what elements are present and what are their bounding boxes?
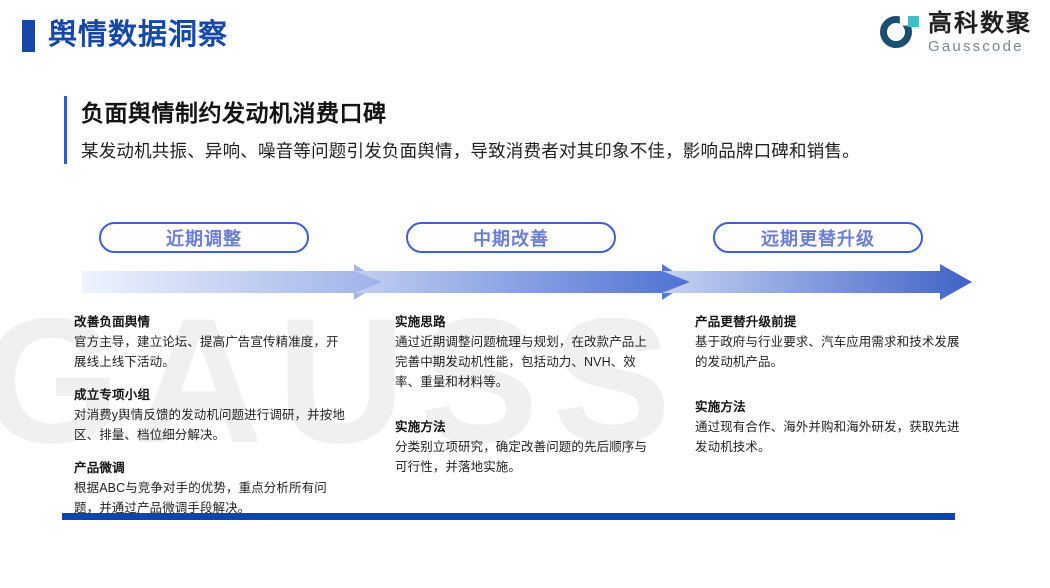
column-long-term: 产品更替升级前提 基于政府与行业要求、汽车应用需求和技术发展的发动机产品。 实施… xyxy=(695,313,963,457)
text-block: 实施思路 通过近期调整问题梳理与规划，在改款产品上完善中期发动机性能，包括动力、… xyxy=(395,313,657,392)
block-body: 分类别立项研究，确定改善问题的先后顺序与可行性，并落地实施。 xyxy=(395,437,657,477)
text-block: 产品微调 根据ABC与竞争对手的优势，重点分析所有问题，并通过产品微调手段解决。 xyxy=(74,459,350,518)
gausscode-mark-icon xyxy=(880,13,920,53)
logo-text: 高科数聚 Gausscode xyxy=(928,12,1032,54)
stage-pill-long-term[interactable]: 远期更替升级 xyxy=(713,222,923,253)
column-mid-term: 实施思路 通过近期调整问题梳理与规划，在改款产品上完善中期发动机性能，包括动力、… xyxy=(395,313,657,477)
logo-square-shape xyxy=(908,16,919,27)
block-heading: 实施方法 xyxy=(395,418,657,437)
block-body: 对消费y舆情反馈的发动机问题进行调研，并按地区、排量、档位细分解决。 xyxy=(74,405,350,445)
block-body: 根据ABC与竞争对手的优势，重点分析所有问题，并通过产品微调手段解决。 xyxy=(74,478,350,518)
block-heading: 改善负面舆情 xyxy=(74,313,350,332)
block-body: 基于政府与行业要求、汽车应用需求和技术发展的发动机产品。 xyxy=(695,332,963,372)
page-title: 舆情数据洞察 xyxy=(48,15,228,55)
block-heading: 成立专项小组 xyxy=(74,386,350,405)
block-heading: 实施思路 xyxy=(395,313,657,332)
block-heading: 产品更替升级前提 xyxy=(695,313,963,332)
timeline-arrow-svg xyxy=(82,264,972,300)
logo-name-cn: 高科数聚 xyxy=(928,12,1032,36)
text-block: 成立专项小组 对消费y舆情反馈的发动机问题进行调研，并按地区、排量、档位细分解决… xyxy=(74,386,350,445)
stage-pill-mid-term[interactable]: 中期改善 xyxy=(406,222,616,253)
block-body: 通过现有合作、海外并购和海外研发，获取先进发动机技术。 xyxy=(695,417,963,457)
column-near-term: 改善负面舆情 官方主导，建立论坛、提高广告宣传精准度，开展线上线下活动。 成立专… xyxy=(74,313,350,518)
intro-block: 负面舆情制约发动机消费口碑 某发动机共振、异响、噪音等问题引发负面舆情，导致消费… xyxy=(64,96,964,164)
text-block: 改善负面舆情 官方主导，建立论坛、提高广告宣传精准度，开展线上线下活动。 xyxy=(74,313,350,372)
block-body: 官方主导，建立论坛、提高广告宣传精准度，开展线上线下活动。 xyxy=(74,332,350,372)
intro-subtitle: 某发动机共振、异响、噪音等问题引发负面舆情，导致消费者对其印象不佳，影响品牌口碑… xyxy=(81,138,964,164)
intro-title: 负面舆情制约发动机消费口碑 xyxy=(81,96,964,130)
page-header: 舆情数据洞察 高科数聚 Gausscode xyxy=(0,0,1050,72)
footer-bar xyxy=(62,513,955,520)
text-block: 产品更替升级前提 基于政府与行业要求、汽车应用需求和技术发展的发动机产品。 xyxy=(695,313,963,372)
block-body: 通过近期调整问题梳理与规划，在改款产品上完善中期发动机性能，包括动力、NVH、效… xyxy=(395,332,657,392)
stage-pill-near-term[interactable]: 近期调整 xyxy=(99,222,309,253)
text-block: 实施方法 通过现有合作、海外并购和海外研发，获取先进发动机技术。 xyxy=(695,398,963,457)
logo-name-en: Gausscode xyxy=(928,39,1032,54)
text-block: 实施方法 分类别立项研究，确定改善问题的先后顺序与可行性，并落地实施。 xyxy=(395,418,657,477)
timeline-arrow-band xyxy=(82,264,972,300)
block-heading: 实施方法 xyxy=(695,398,963,417)
block-heading: 产品微调 xyxy=(74,459,350,478)
header-bullet-icon xyxy=(22,20,35,52)
brand-logo: 高科数聚 Gausscode xyxy=(880,12,1032,54)
